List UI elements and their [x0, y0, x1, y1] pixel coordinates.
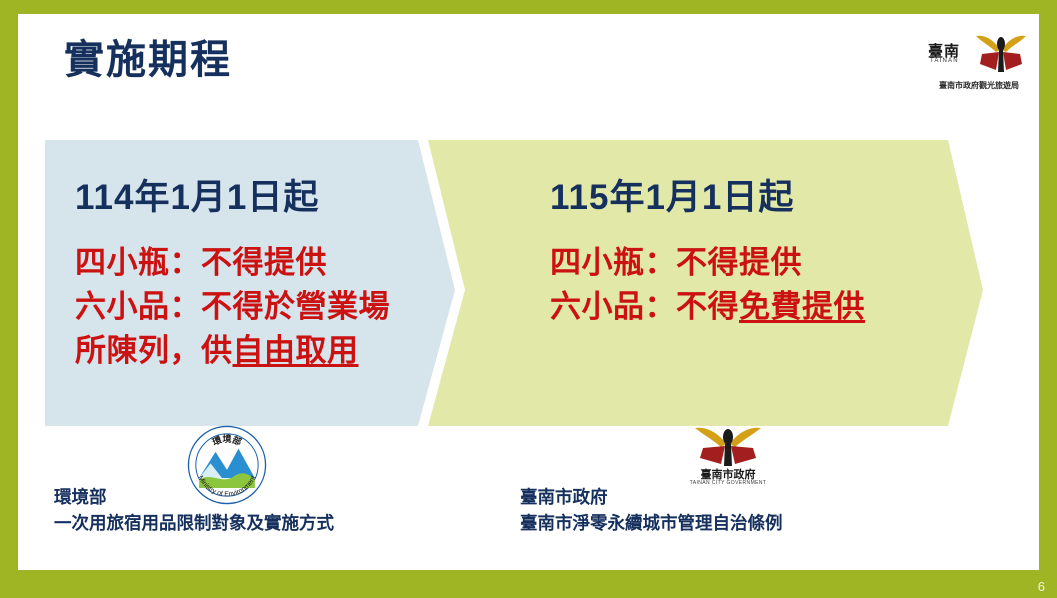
phase-2-date: 115年1月1日起	[550, 180, 865, 215]
phoenix-mark-icon	[685, 422, 771, 466]
phase-1-line-3: 所陳列，供自由取用	[75, 329, 390, 373]
footer-moe-document: 一次用旅宿用品限制對象及實施方式	[54, 510, 334, 536]
page-title: 實施期程	[64, 40, 232, 80]
phase-2-content: 115年1月1日起 四小瓶：不得提供 六小品：不得免費提供	[550, 180, 865, 329]
footer-moe-org: 環境部	[54, 484, 334, 510]
footer-tainan-org: 臺南市政府	[520, 484, 783, 510]
phase-1-line-1: 四小瓶：不得提供	[75, 241, 390, 285]
phase-1-line-2: 六小品：不得於營業場	[75, 285, 390, 329]
footer-tainan-document: 臺南市淨零永續城市管理自治條例	[520, 510, 783, 536]
phase-2-line-2-underlined: 免費提供	[739, 289, 865, 324]
phase-1-line-3-underlined: 自由取用	[233, 333, 359, 368]
phase-2-line-1: 四小瓶：不得提供	[550, 241, 865, 285]
phase-1-line-1-plain: 四小瓶：不得提供	[75, 245, 327, 280]
tainan-tourism-bureau-logo: 臺南 TAINAN 臺南市政府觀光旅遊局	[926, 26, 1032, 100]
phase-1-content: 114年1月1日起 四小瓶：不得提供 六小品：不得於營業場 所陳列，供自由取用	[75, 180, 390, 373]
phase-1-line-2-plain: 六小品：不得於營業場	[75, 289, 390, 324]
slide-canvas: 實施期程 臺南 TAINAN 臺南市政府觀光旅遊局 114年1月1日起	[18, 14, 1039, 570]
tourism-logo-name-en: TAINAN	[930, 58, 959, 64]
phase-1-date: 114年1月1日起	[75, 180, 390, 215]
phase-2-line-2-plain: 六小品：不得	[550, 289, 739, 324]
slide-root: 實施期程 臺南 TAINAN 臺南市政府觀光旅遊局 114年1月1日起	[0, 0, 1057, 598]
phase-2-line-2: 六小品：不得免費提供	[550, 285, 865, 329]
phase-2-line-1-plain: 四小瓶：不得提供	[550, 245, 802, 280]
phase-1-line-3-plain: 所陳列，供	[75, 333, 233, 368]
footer-moe: 環境部 一次用旅宿用品限制對象及實施方式	[54, 484, 334, 537]
tourism-logo-subtitle: 臺南市政府觀光旅遊局	[926, 80, 1032, 91]
phoenix-mark-icon	[972, 30, 1030, 74]
footer-tainan: 臺南市政府 臺南市淨零永續城市管理自治條例	[520, 484, 783, 537]
page-number: 6	[1038, 579, 1045, 594]
